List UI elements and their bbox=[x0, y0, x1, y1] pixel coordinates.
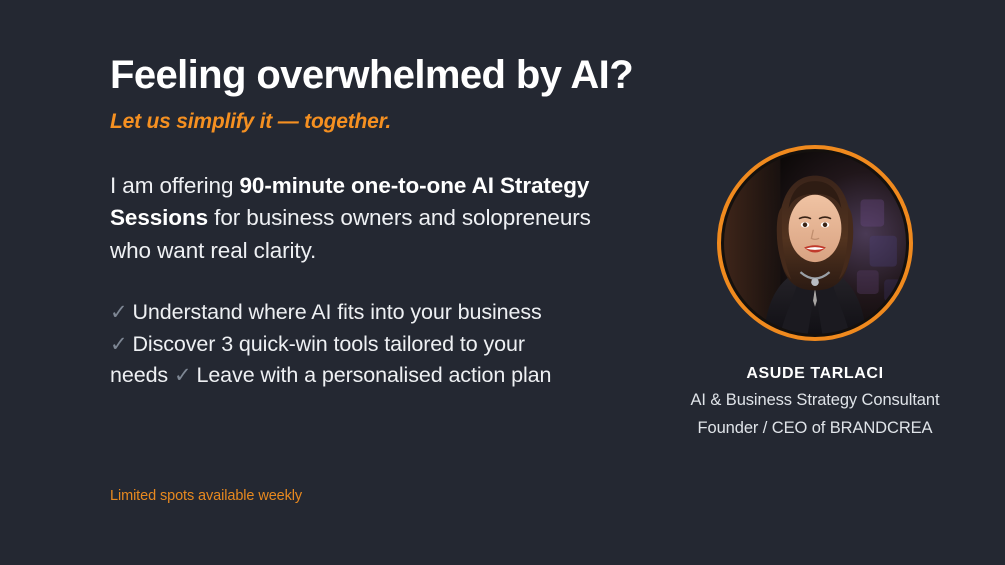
profile-company: Founder / CEO of BRANDCREA bbox=[660, 419, 970, 438]
portrait-illustration bbox=[724, 152, 906, 334]
list-item-label: Leave with a personalised action plan bbox=[196, 363, 551, 387]
promo-slide: Feeling overwhelmed by AI? Let us simpli… bbox=[0, 0, 1005, 565]
check-icon: ✓ bbox=[110, 301, 128, 324]
list-item-label: Understand where AI fits into your busin… bbox=[133, 300, 542, 324]
check-icon: ✓ bbox=[174, 364, 192, 387]
subtitle: Let us simplify it — together. bbox=[110, 110, 710, 134]
availability-note: Limited spots available weekly bbox=[110, 488, 302, 504]
list-item: ✓Leave with a personalised action plan bbox=[174, 363, 551, 387]
offer-lead-text: I am offering bbox=[110, 173, 240, 198]
avatar bbox=[717, 145, 913, 341]
page-title: Feeling overwhelmed by AI? bbox=[110, 52, 710, 98]
profile-role: AI & Business Strategy Consultant bbox=[660, 391, 970, 410]
check-icon: ✓ bbox=[110, 333, 128, 356]
list-item: ✓Understand where AI fits into your busi… bbox=[110, 300, 542, 324]
profile-column: ASUDE TARLACI AI & Business Strategy Con… bbox=[660, 145, 970, 438]
benefits-list: ✓Understand where AI fits into your busi… bbox=[110, 297, 585, 391]
profile-name: ASUDE TARLACI bbox=[660, 365, 970, 383]
portrait-photo bbox=[724, 152, 906, 334]
left-content-column: Feeling overwhelmed by AI? Let us simpli… bbox=[110, 52, 710, 391]
offer-paragraph: I am offering 90-minute one-to-one AI St… bbox=[110, 170, 600, 267]
